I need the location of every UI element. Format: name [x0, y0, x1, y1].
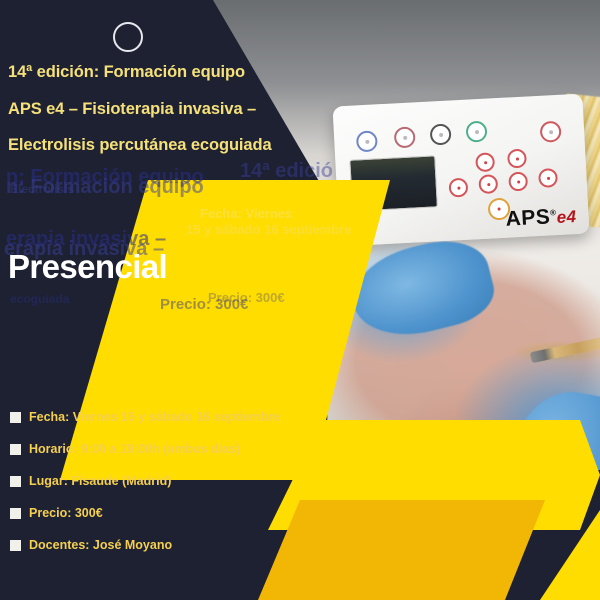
- list-item: Horario: 9:00 a 19:00h (ambos días): [10, 442, 310, 456]
- circle-outline-icon: [113, 22, 143, 52]
- page-title: 14ª edición: Formación equipo APS e4 – F…: [8, 64, 308, 174]
- square-bullet-icon: [10, 444, 21, 455]
- list-item: Fecha: Viernes 15 y sábado 16 septiembre: [10, 410, 310, 424]
- details-list: Fecha: Viernes 15 y sábado 16 septiembre…: [10, 410, 310, 570]
- device-knob-4: [465, 121, 487, 143]
- device-brand-logo: APS®e4: [505, 204, 577, 232]
- list-item: Docentes: José Moyano: [10, 538, 310, 552]
- list-item-label: Docentes: José Moyano: [29, 538, 172, 552]
- device-button-5: [508, 172, 528, 192]
- square-bullet-icon: [10, 476, 21, 487]
- device-button-2: [507, 149, 527, 169]
- device-button-3: [448, 178, 468, 198]
- headline-line-2: APS e4 – Fisioterapia invasiva –: [8, 101, 308, 118]
- poster-canvas: APS®e4 n: Formación equipo n: Formación …: [0, 0, 600, 600]
- needle-tool: [530, 336, 600, 363]
- device-button-1: [475, 152, 495, 172]
- headline-line-3: Electrolisis percutánea ecoguiada: [8, 137, 308, 154]
- list-item: Precio: 300€: [10, 506, 310, 520]
- device-button-4: [478, 174, 498, 194]
- modality-label: Presencial: [8, 248, 167, 286]
- list-item-label: Fecha: Viernes 15 y sábado 16 septiembre: [29, 410, 280, 424]
- device-knob-2: [394, 126, 416, 148]
- list-item-label: Lugar: Fisaude (Madrid): [29, 474, 171, 488]
- device-knob-5: [540, 121, 562, 143]
- square-bullet-icon: [10, 508, 21, 519]
- device-knob-3: [430, 123, 452, 145]
- device-brand-model: e4: [556, 207, 577, 227]
- list-item-label: Precio: 300€: [29, 506, 103, 520]
- device-knob-1: [356, 130, 378, 152]
- list-item-label: Horario: 9:00 a 19:00h (ambos días): [29, 442, 240, 456]
- device-button-6: [538, 168, 558, 188]
- list-item: Lugar: Fisaude (Madrid): [10, 474, 310, 488]
- square-bullet-icon: [10, 412, 21, 423]
- square-bullet-icon: [10, 540, 21, 551]
- device-brand-name: APS: [505, 205, 551, 230]
- headline-line-1: 14ª edición: Formación equipo: [8, 64, 308, 81]
